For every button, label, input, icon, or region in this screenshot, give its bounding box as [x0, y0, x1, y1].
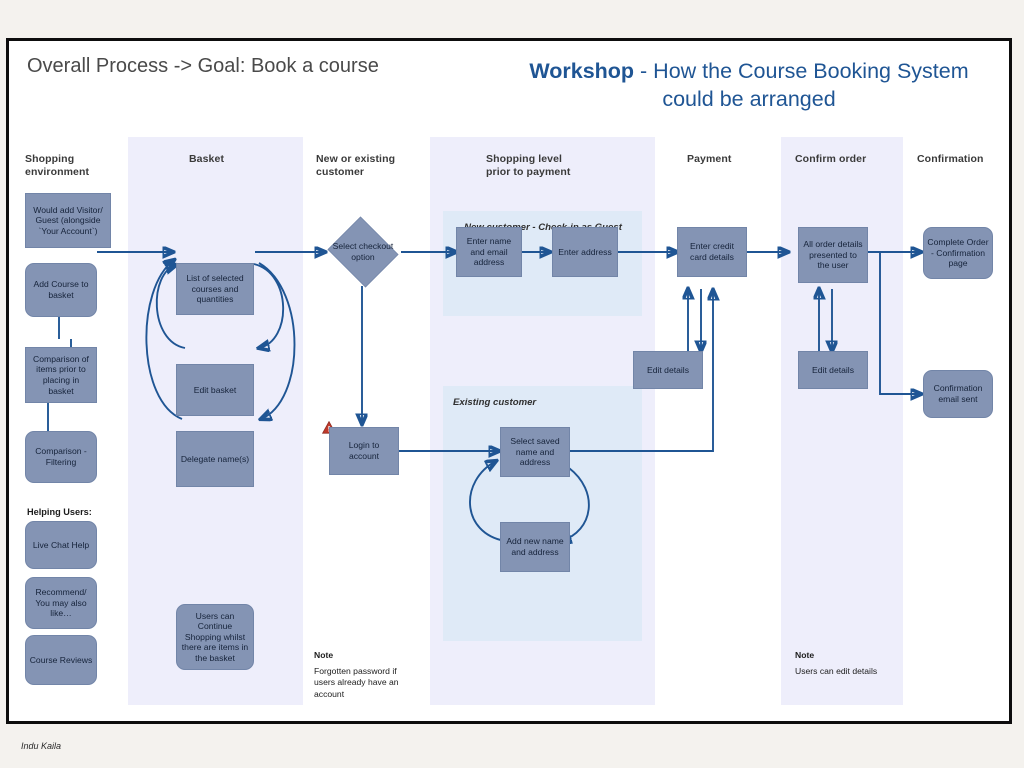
node-label: Enter name and email address: [460, 236, 518, 268]
lane-title-confirmation: Confirmation: [917, 153, 1009, 166]
subpanel-existing-customer: [443, 386, 642, 641]
section-label-helping-users: Helping Users:: [27, 507, 92, 517]
node-label: List of selected courses and quantities: [180, 273, 250, 305]
node-label: Enter address: [558, 247, 612, 258]
node-label: Comparison of items prior to placing in …: [29, 354, 93, 396]
node-label: Would add Visitor/ Guest (alongside `You…: [29, 205, 107, 237]
node-label: Select saved name and address: [504, 436, 566, 468]
node-label: Add new name and address: [504, 536, 566, 557]
node-login-to-account[interactable]: Login to account: [329, 427, 399, 475]
lane-title-shopping-level: Shopping level prior to payment: [486, 153, 586, 179]
note-heading: Note: [795, 650, 915, 662]
note-body: Forgotten password if users already have…: [314, 666, 399, 699]
main-title-rest: - How the Course Booking System could be…: [634, 59, 969, 111]
node-recommend-you-may-also-like[interactable]: Recommend/ You may also like…: [25, 577, 97, 629]
lane-title-new-or-existing-customer: New or existing customer: [316, 153, 412, 179]
lane-band-confirm-order: [781, 137, 903, 705]
node-users-can-continue-shopping[interactable]: Users can Continue Shopping whilst there…: [176, 604, 254, 670]
main-title-bold: Workshop: [529, 59, 634, 83]
node-label: Edit details: [647, 365, 689, 376]
node-add-new-name-and-address[interactable]: Add new name and address: [500, 522, 570, 572]
node-label: All order details presented to the user: [802, 239, 864, 271]
slide-canvas: Shopping environment Basket New or exist…: [6, 38, 1012, 724]
node-course-reviews[interactable]: Course Reviews: [25, 635, 97, 685]
node-delegate-names[interactable]: Delegate name(s): [176, 431, 254, 487]
node-enter-credit-card-details[interactable]: Enter credit card details: [677, 227, 747, 277]
node-label: Add Course to basket: [29, 279, 93, 300]
node-label: Login to account: [333, 440, 395, 461]
node-label: Confirmation email sent: [927, 383, 989, 404]
diagram-canvas: Shopping environment Basket New or exist…: [9, 41, 1009, 721]
node-comparison-filtering[interactable]: Comparison - Filtering: [25, 431, 97, 483]
lane-title-shopping-environment: Shopping environment: [25, 153, 121, 179]
node-edit-details-payment[interactable]: Edit details: [633, 351, 703, 389]
node-label: Edit details: [812, 365, 854, 376]
note-forgotten-password: Note Forgotten password if users already…: [314, 650, 418, 700]
node-edit-basket[interactable]: Edit basket: [176, 364, 254, 416]
node-label: Delegate name(s): [181, 454, 249, 465]
lane-title-basket: Basket: [189, 153, 269, 166]
lane-band-confirmation: [903, 137, 1009, 705]
author-credit: Indu Kaila: [21, 741, 61, 751]
main-title: Workshop - How the Course Booking System…: [509, 57, 989, 113]
node-add-course-to-basket[interactable]: Add Course to basket: [25, 263, 97, 317]
node-edit-details-confirm[interactable]: Edit details: [798, 351, 868, 389]
node-select-checkout-option[interactable]: Select checkout option: [325, 219, 401, 285]
node-list-of-selected-courses[interactable]: List of selected courses and quantities: [176, 263, 254, 315]
node-select-saved-name-and-address[interactable]: Select saved name and address: [500, 427, 570, 477]
node-comparison-of-items[interactable]: Comparison of items prior to placing in …: [25, 347, 97, 403]
node-complete-order-confirmation-page[interactable]: Complete Order - Confirmation page: [923, 227, 993, 279]
node-confirmation-email-sent[interactable]: Confirmation email sent: [923, 370, 993, 418]
lane-title-payment: Payment: [687, 153, 767, 166]
note-body: Users can edit details: [795, 666, 877, 676]
node-label: Select checkout option: [325, 241, 401, 262]
page-title: Overall Process -> Goal: Book a course: [27, 55, 379, 78]
node-would-add-visitor-guest[interactable]: Would add Visitor/ Guest (alongside `You…: [25, 193, 111, 248]
node-enter-address[interactable]: Enter address: [552, 227, 618, 277]
node-label: Edit basket: [194, 385, 237, 396]
node-enter-name-and-email-address[interactable]: Enter name and email address: [456, 227, 522, 277]
node-label: Users can Continue Shopping whilst there…: [180, 611, 250, 664]
note-edit-details: Note Users can edit details: [795, 650, 915, 677]
node-label: Comparison - Filtering: [29, 446, 93, 467]
node-live-chat-help[interactable]: Live Chat Help: [25, 521, 97, 569]
node-label: Course Reviews: [30, 655, 93, 666]
lane-title-confirm-order: Confirm order: [795, 153, 885, 166]
node-label: Live Chat Help: [33, 540, 89, 551]
subpanel-label-existing-customer: Existing customer: [453, 396, 613, 409]
node-label: Enter credit card details: [681, 241, 743, 262]
node-all-order-details[interactable]: All order details presented to the user: [798, 227, 868, 283]
lane-band-payment: [655, 137, 781, 705]
node-label: Recommend/ You may also like…: [29, 587, 93, 619]
node-label: Complete Order - Confirmation page: [927, 237, 989, 269]
note-heading: Note: [314, 650, 418, 662]
